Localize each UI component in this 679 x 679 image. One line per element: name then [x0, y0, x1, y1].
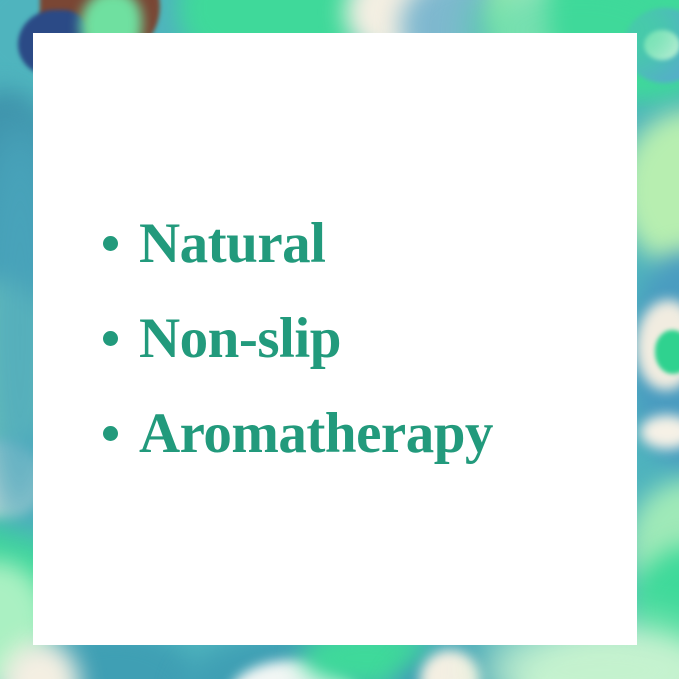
list-item: Natural [103, 196, 633, 291]
feature-card-image: Natural Non-slip Aromatherapy [0, 0, 679, 679]
feature-label: Natural [139, 215, 325, 272]
white-content-card: Natural Non-slip Aromatherapy [33, 33, 637, 645]
list-item: Non-slip [103, 291, 633, 386]
list-item: Aromatherapy [103, 386, 633, 481]
feature-label: Aromatherapy [139, 405, 493, 462]
bullet-circle-icon [103, 331, 118, 346]
artwork-shape-cream-right-oval [640, 415, 679, 449]
feature-bullet-list: Natural Non-slip Aromatherapy [103, 196, 633, 481]
bullet-circle-icon [103, 426, 118, 441]
feature-label: Non-slip [139, 310, 341, 367]
bullet-circle-icon [103, 236, 118, 251]
